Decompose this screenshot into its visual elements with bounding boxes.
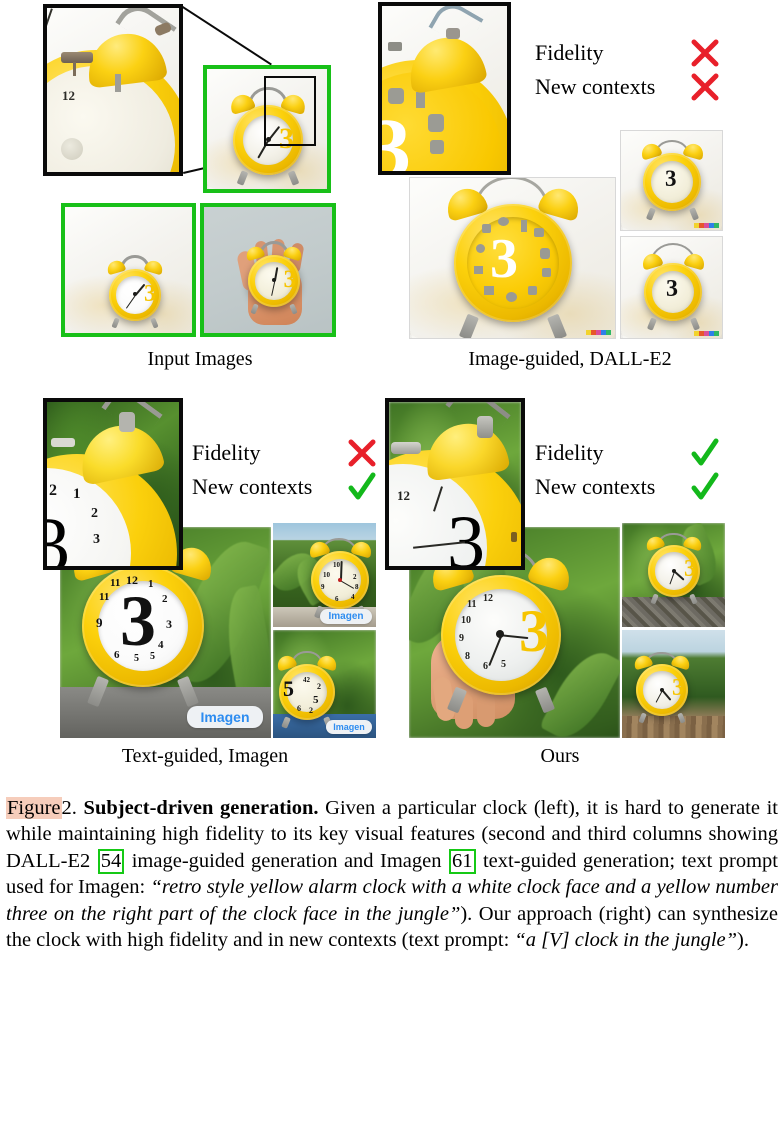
citation-61[interactable]: 61 (449, 849, 476, 875)
dalle-small-clock-bottom[interactable]: 3 (620, 236, 723, 339)
eval-row: New contexts (535, 70, 725, 104)
dalle-signature-bar (586, 330, 611, 335)
zoom-inset-clock-bell[interactable]: 12 3 (43, 4, 183, 176)
eval-row: Fidelity (535, 36, 725, 70)
eval-label-fidelity: Fidelity (535, 440, 685, 466)
dalle-large-clock-on-bed[interactable]: 3 (409, 177, 616, 339)
eval-label-new-contexts: New contexts (535, 474, 685, 500)
eval-label-fidelity: Fidelity (535, 40, 685, 66)
eval-row: Fidelity (192, 436, 382, 470)
check-icon (342, 472, 382, 502)
cross-icon (342, 439, 382, 467)
zoom-connector-top (182, 6, 272, 65)
imagen-small-clock-jungle-top[interactable]: 10 10 9 2 8 4 6 Imagen (273, 523, 376, 627)
eval-label-new-contexts: New contexts (192, 474, 342, 500)
panel-caption-input: Input Images (60, 348, 340, 371)
reference-clock-on-sheet[interactable]: 3 (61, 203, 196, 337)
figure-caption: Figure2. Subject-driven generation. Give… (6, 795, 778, 954)
reference-clock-on-bed[interactable]: 3 (203, 65, 331, 193)
eval-imagen: Fidelity New contexts (192, 436, 382, 504)
eval-label-fidelity: Fidelity (192, 440, 342, 466)
dalle-small-clock-top[interactable]: 3 (620, 130, 723, 231)
imagen-watermark: Imagen (187, 706, 263, 728)
inset-number-12: 12 (62, 88, 75, 104)
eval-row: New contexts (535, 470, 725, 504)
dalle-zoom-inset[interactable]: 3 (378, 2, 511, 175)
cross-icon (685, 39, 725, 67)
eval-label-new-contexts: New contexts (535, 74, 685, 100)
eval-row: Fidelity (535, 436, 725, 470)
caption-body-2: image-guided generation and Imagen (125, 850, 448, 872)
cross-icon (685, 73, 725, 101)
check-icon (685, 438, 725, 468)
reference-clock-in-hand[interactable]: 3 (200, 203, 336, 337)
caption-body-5: ). (737, 929, 749, 951)
zoom-region-box (264, 76, 316, 146)
imagen-small-clock-jungle-bottom[interactable]: 5 42 2 5 6 2 Imagen (273, 630, 376, 738)
citation-54[interactable]: 54 (98, 849, 125, 875)
figure-title: Subject-driven generation. (84, 797, 319, 819)
eval-row: New contexts (192, 470, 382, 504)
panel-caption-ours: Ours (470, 745, 650, 768)
clock-number-3: 3 (519, 601, 549, 661)
check-icon (685, 472, 725, 502)
ours-zoom-inset[interactable]: 12 3 (385, 398, 525, 570)
imagen-zoom-inset[interactable]: 2 1 2 3 3 (43, 398, 183, 570)
imagen-watermark: Imagen (320, 609, 372, 624)
eval-ours: Fidelity New contexts (535, 436, 725, 504)
ours-small-clock-stone[interactable]: 3 (622, 523, 725, 627)
prompt-ours: “a [V] clock in the jungle” (514, 929, 737, 951)
eval-dalle2: Fidelity New contexts (535, 36, 725, 104)
ours-small-clock-log[interactable]: 3 (622, 630, 725, 738)
imagen-watermark: Imagen (326, 720, 372, 734)
panel-caption-imagen: Text-guided, Imagen (55, 745, 355, 768)
figure-page: 3 12 3 (0, 0, 783, 1123)
panel-caption-dalle: Image-guided, DALL-E2 (420, 348, 720, 371)
figure-number: 2. (62, 797, 77, 819)
figure-label: Figure (6, 797, 62, 819)
